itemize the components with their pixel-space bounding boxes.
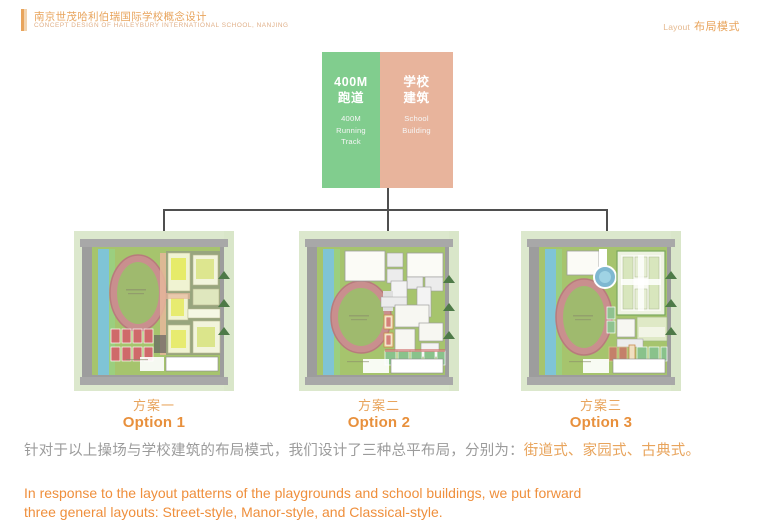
caption-cn-highlight: 街道式、家园式、古典式。 — [524, 443, 700, 459]
connector-drop-center — [387, 209, 389, 231]
concept-track-en-line1: 400M — [322, 113, 380, 125]
logo-bar-icon — [21, 9, 27, 31]
concept-building-title-cn2: 建筑 — [380, 90, 453, 106]
concept-track-en-line2: Running — [322, 125, 380, 137]
site-plan-image-3 — [521, 231, 681, 391]
concept-building-en-line2: Building — [380, 125, 453, 137]
option-1-label-cn: 方案一 — [74, 398, 234, 414]
site-plan-image-1 — [74, 231, 234, 391]
concept-building-block: 学校 建筑 School Building — [380, 52, 453, 188]
concept-building-subtitle-en: School Building — [380, 113, 453, 136]
concept-track-en-line3: Track — [322, 136, 380, 148]
site-plan-option-1[interactable] — [74, 231, 234, 391]
concept-track-subtitle-en: 400M Running Track — [322, 113, 380, 148]
caption-cn-part1: 针对于以上操场与学校建筑的布局模式，我们设计了三种总平布局，分别为： — [24, 443, 524, 459]
caption-en-line2: three general layouts: Street-style, Man… — [24, 503, 739, 522]
site-plan-option-3[interactable] — [521, 231, 681, 391]
option-label-2: 方案二 Option 2 — [299, 398, 459, 432]
section-label-en: Layout — [663, 22, 690, 32]
caption-english: In response to the layout patterns of th… — [24, 484, 739, 522]
connector-rail — [163, 209, 608, 211]
option-2-label-en: Option 2 — [299, 414, 459, 432]
concept-track-title-cn: 400M — [322, 74, 380, 90]
section-label-cn: 布局模式 — [694, 21, 740, 33]
connector-drop-right — [606, 209, 608, 231]
option-label-3: 方案三 Option 3 — [521, 398, 681, 432]
header-title-en: CONCEPT DESIGN OF HAILEYBURY INTERNATION… — [34, 22, 289, 29]
concept-diagram-box: 400M 跑道 400M Running Track 学校 建筑 School … — [322, 52, 453, 188]
concept-building-title-cn: 学校 — [380, 74, 453, 90]
concept-track-title-cn2: 跑道 — [322, 90, 380, 106]
page-header: 南京世茂哈利伯瑞国际学校概念设计 CONCEPT DESIGN OF HAILE… — [0, 0, 760, 42]
option-label-1: 方案一 Option 1 — [74, 398, 234, 432]
caption-chinese: 针对于以上操场与学校建筑的布局模式，我们设计了三种总平布局，分别为：街道式、家园… — [24, 441, 739, 462]
concept-building-en-line1: School — [380, 113, 453, 125]
option-3-label-cn: 方案三 — [521, 398, 681, 414]
option-1-label-en: Option 1 — [74, 414, 234, 432]
option-3-label-en: Option 3 — [521, 414, 681, 432]
connector-stem — [387, 188, 389, 210]
site-plan-image-2 — [299, 231, 459, 391]
connector-drop-left — [163, 209, 165, 231]
option-2-label-cn: 方案二 — [299, 398, 459, 414]
concept-track-block: 400M 跑道 400M Running Track — [322, 52, 380, 188]
site-plan-option-2[interactable] — [299, 231, 459, 391]
caption-en-line1: In response to the layout patterns of th… — [24, 484, 739, 503]
section-label: Layout布局模式 — [663, 17, 740, 35]
